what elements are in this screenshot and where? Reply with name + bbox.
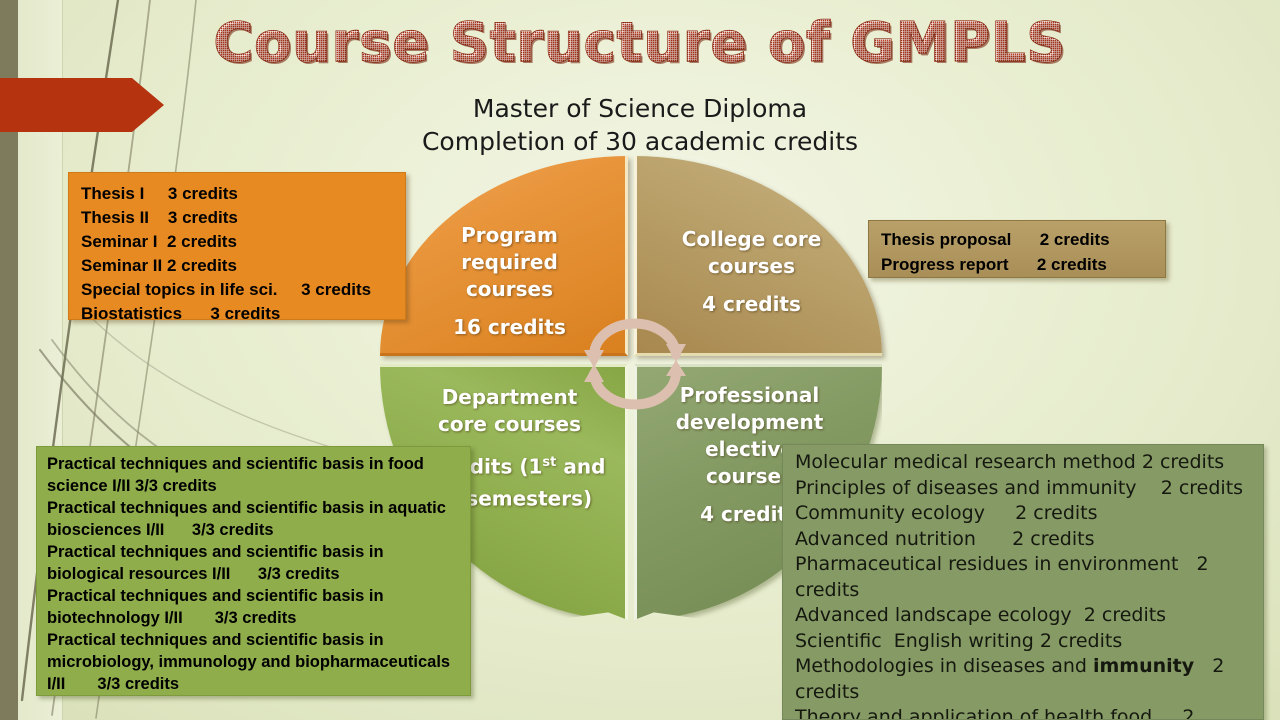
quadrant-title-line: core courses xyxy=(438,412,581,436)
callout-professional-development-elective-courses: Molecular medical research method 2 cred… xyxy=(782,444,1264,720)
callout-line: Practical techniques and scientific basi… xyxy=(47,497,464,541)
callout-college-core-courses: Thesis proposal 2 credits Progress repor… xyxy=(868,220,1166,278)
callout-line: Pharmaceutical residues in environment 2… xyxy=(795,552,1257,603)
callout-line-bold: immunity xyxy=(1093,655,1194,677)
subtitle: Master of Science Diploma Completion of … xyxy=(0,92,1280,158)
subtitle-line-2: Completion of 30 academic credits xyxy=(0,125,1280,158)
quadrant-title-line: Professional xyxy=(680,383,820,407)
callout-line: Practical techniques and scientific basi… xyxy=(47,585,464,629)
callout-program-required-courses: Thesis I 3 credits Thesis II 3 credits S… xyxy=(68,172,406,320)
callout-line-with-bold: Methodologies in diseases and immunity 2… xyxy=(795,654,1257,705)
callout-line: Thesis proposal 2 credits xyxy=(881,227,1157,252)
callout-line: Practical techniques and scientific basi… xyxy=(47,541,464,585)
quadrant-title-line: courses xyxy=(706,464,793,488)
quadrant-title-line: elective xyxy=(705,437,794,461)
callout-line: Special topics in life sci. 3 credits xyxy=(81,278,397,302)
slide-canvas: Course Structure of GMPLS Master of Scie… xyxy=(0,0,1280,720)
callout-line: Theory and application of health food 2 xyxy=(795,705,1257,720)
callout-line: Advanced nutrition 2 credits xyxy=(795,527,1257,553)
circular-flow-arrows-icon xyxy=(570,304,700,426)
page-title-text: Course Structure of GMPLS xyxy=(214,12,1067,74)
subtitle-line-1: Master of Science Diploma xyxy=(0,92,1280,125)
quadrant-title-line: courses xyxy=(708,254,795,278)
quadrant-title-line: Department xyxy=(442,385,578,409)
callout-line: Scientific English writing 2 credits xyxy=(795,629,1257,655)
callout-line: Biostatistics 3 credits xyxy=(81,302,397,326)
callout-line: Principles of diseases and immunity 2 cr… xyxy=(795,476,1257,502)
quadrant-title-line: required xyxy=(461,250,558,274)
quadrant-title-line: College core xyxy=(682,227,822,251)
page-title: Course Structure of GMPLS xyxy=(0,12,1280,74)
credits-sup-first: st xyxy=(542,455,556,470)
callout-line: Advanced landscape ecology 2 credits xyxy=(795,603,1257,629)
callout-line: Practical techniques and scientific basi… xyxy=(47,453,464,497)
callout-line: Seminar I 2 credits xyxy=(81,230,397,254)
quadrant-title-line: Program xyxy=(461,223,558,247)
callout-line: Molecular medical research method 2 cred… xyxy=(795,450,1257,476)
callout-line-prefix: Methodologies in diseases and xyxy=(795,655,1093,677)
callout-line: Practical techniques and scientific basi… xyxy=(47,629,464,695)
callout-line: Community ecology 2 credits xyxy=(795,501,1257,527)
credits-suffix: semesters) xyxy=(459,486,592,510)
quadrant-title-line: courses xyxy=(466,277,553,301)
callout-line: Thesis I 3 credits xyxy=(81,182,397,206)
callout-department-core-courses: Practical techniques and scientific basi… xyxy=(36,446,471,696)
callout-line: Thesis II 3 credits xyxy=(81,206,397,230)
callout-line: Seminar II 2 credits xyxy=(81,254,397,278)
callout-line: Progress report 2 credits xyxy=(881,252,1157,277)
